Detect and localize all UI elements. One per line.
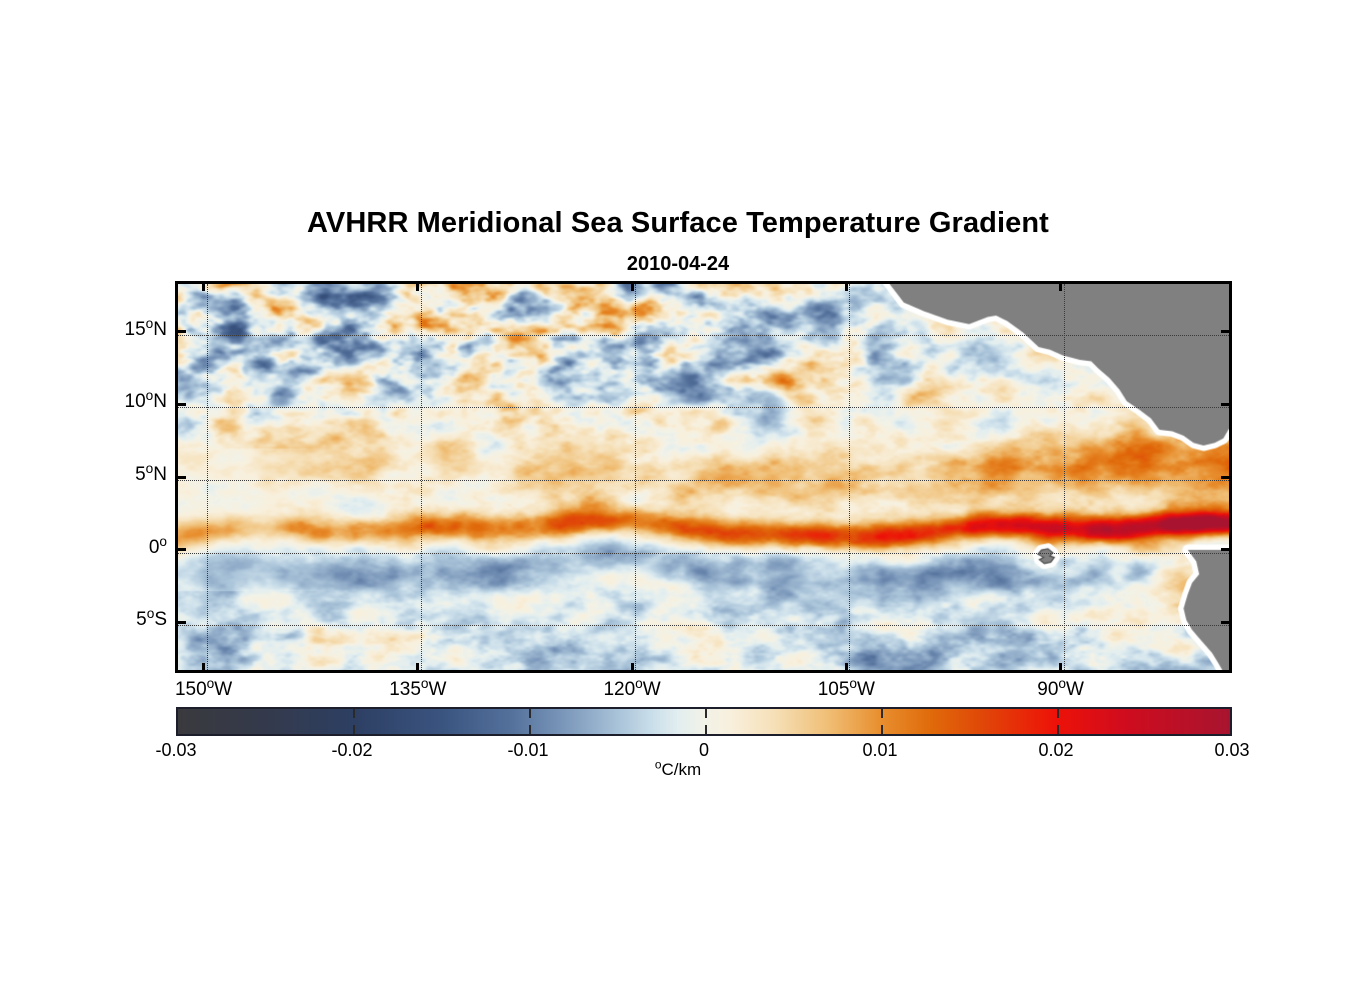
chart-title: AVHRR Meridional Sea Surface Temperature…	[0, 207, 1356, 240]
colorbar-gradient	[178, 709, 1230, 734]
y-tick-left-1	[175, 403, 186, 406]
y-tick-right-2	[1221, 476, 1232, 479]
x-tick-top-4	[1059, 281, 1062, 291]
colorbar[interactable]	[176, 707, 1232, 736]
y-tick-label-4: 5oS	[77, 609, 167, 631]
colorbar-tick-bottom-4	[881, 725, 883, 734]
x-tick-label-1: 135oW	[358, 679, 478, 701]
x-tick-top-0	[202, 281, 205, 291]
colorbar-tick-bottom-5	[1057, 725, 1059, 734]
colorbar-tick-top-2	[529, 709, 531, 718]
sst-gradient-heatmap	[178, 284, 1229, 670]
y-tick-left-0	[175, 330, 186, 333]
colorbar-tick-label-2: -0.01	[468, 740, 588, 761]
figure-canvas: AVHRR Meridional Sea Surface Temperature…	[0, 0, 1356, 1000]
colorbar-tick-label-4: 0.01	[820, 740, 940, 761]
colorbar-tick-label-0: -0.03	[116, 740, 236, 761]
x-tick-bottom-1	[416, 663, 419, 673]
colorbar-tick-label-3: 0	[644, 740, 764, 761]
y-tick-left-4	[175, 621, 186, 624]
y-tick-right-1	[1221, 403, 1232, 406]
y-tick-label-1: 10oN	[77, 391, 167, 413]
y-tick-right-3	[1221, 548, 1232, 551]
x-tick-bottom-0	[202, 663, 205, 673]
colorbar-unit-label: oC/km	[0, 760, 1356, 780]
x-tick-top-1	[416, 281, 419, 291]
y-tick-right-0	[1221, 330, 1232, 333]
colorbar-tick-label-1: -0.02	[292, 740, 412, 761]
colorbar-tick-bottom-3	[705, 725, 707, 734]
colorbar-tick-bottom-2	[529, 725, 531, 734]
x-tick-bottom-3	[845, 663, 848, 673]
y-tick-label-2: 5oN	[77, 464, 167, 486]
colorbar-tick-top-3	[705, 709, 707, 718]
y-tick-label-0: 15oN	[77, 319, 167, 341]
colorbar-tick-top-4	[881, 709, 883, 718]
x-tick-label-3: 105oW	[786, 679, 906, 701]
colorbar-tick-label-5: 0.02	[996, 740, 1116, 761]
colorbar-tick-top-1	[353, 709, 355, 718]
x-tick-bottom-2	[631, 663, 634, 673]
y-tick-label-3: 0o	[77, 537, 167, 559]
x-tick-label-4: 90oW	[1001, 679, 1121, 701]
x-tick-bottom-4	[1059, 663, 1062, 673]
x-tick-top-2	[631, 281, 634, 291]
x-tick-label-2: 120oW	[572, 679, 692, 701]
x-tick-label-0: 150oW	[144, 679, 264, 701]
colorbar-tick-top-5	[1057, 709, 1059, 718]
colorbar-tick-bottom-1	[353, 725, 355, 734]
y-tick-right-4	[1221, 621, 1232, 624]
map-axes[interactable]	[175, 281, 1232, 673]
x-tick-top-3	[845, 281, 848, 291]
y-tick-left-2	[175, 476, 186, 479]
chart-subtitle: 2010-04-24	[0, 253, 1356, 276]
y-tick-left-3	[175, 548, 186, 551]
colorbar-tick-label-6: 0.03	[1172, 740, 1292, 761]
